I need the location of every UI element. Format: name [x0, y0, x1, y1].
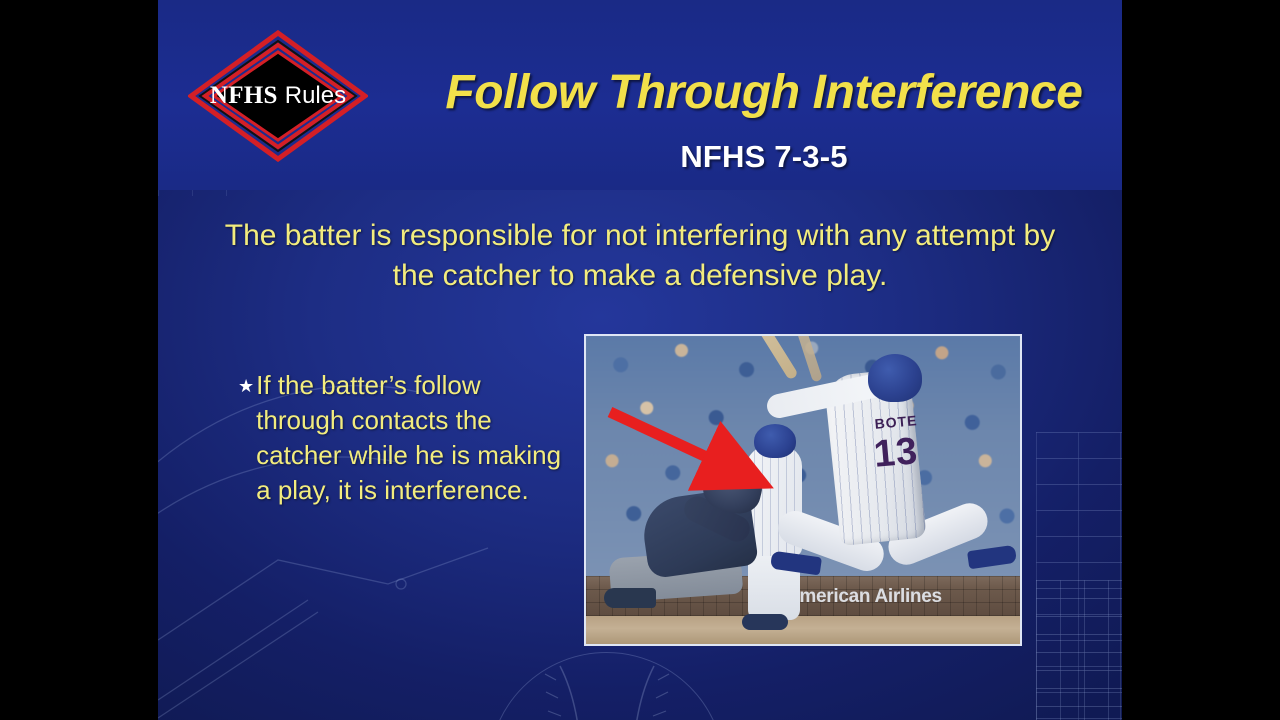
slide-stage: NFHS Rules Follow Through Interference N… — [0, 0, 1280, 720]
wall-signage: American Airlines — [786, 586, 986, 608]
bullet-list-item: ★ If the batter’s follow through contact… — [238, 368, 568, 508]
lead-paragraph: The batter is responsible for not interf… — [206, 216, 1074, 296]
nfhs-rules-logo: NFHS Rules — [188, 30, 368, 162]
diamond-icon — [188, 30, 368, 162]
play-photo: American Airlines — [584, 334, 1022, 646]
catcher-shoe — [604, 588, 656, 608]
slide-title: Follow Through Interference — [414, 69, 1114, 117]
presentation-slide: NFHS Rules Follow Through Interference N… — [158, 0, 1122, 720]
batter-jersey-number: 13 — [852, 428, 939, 478]
runner-shoe — [742, 614, 788, 630]
slide-rule-reference: NFHS 7-3-5 — [414, 139, 1114, 175]
scorebook-grid-bottomright — [1036, 580, 1122, 720]
star-bullet-icon: ★ — [238, 368, 254, 404]
infield-dirt — [586, 616, 1020, 644]
runner-helmet — [754, 424, 796, 458]
batter-helmet — [868, 354, 922, 402]
letterbox-right — [1122, 0, 1280, 720]
photo-content: American Airlines — [586, 336, 1020, 644]
letterbox-left — [0, 0, 158, 720]
bullet-text: If the batter’s follow through contacts … — [256, 368, 568, 508]
